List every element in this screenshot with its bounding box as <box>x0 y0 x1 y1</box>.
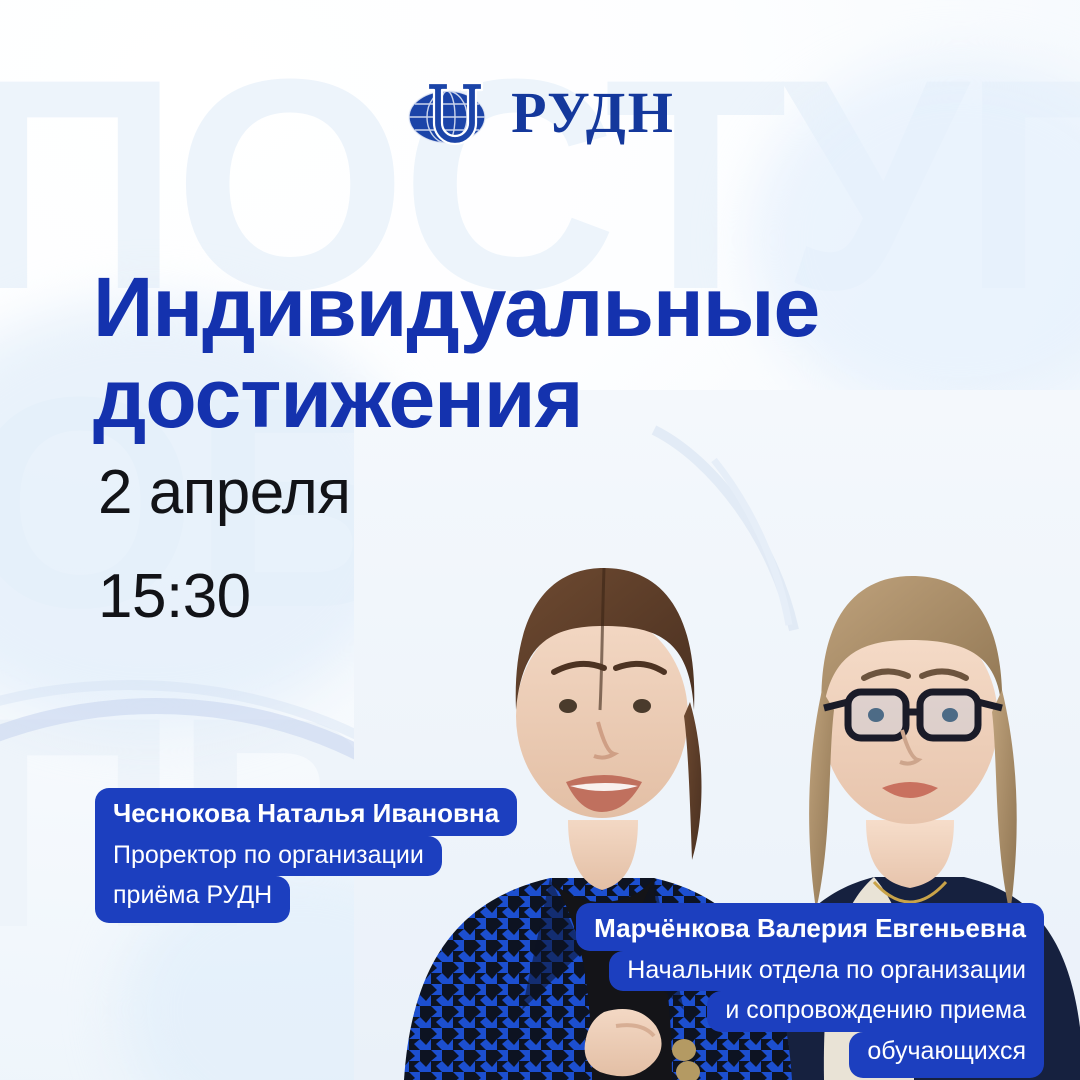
speaker-badge-1: Чеснокова Наталья Ивановна Проректор по … <box>95 788 517 923</box>
event-date: 2 апреля <box>98 462 350 524</box>
title-line-2: достижения <box>93 353 819 444</box>
rudn-globe-flask-icon <box>405 70 489 156</box>
poster-canvas: ПОСТУП ОБРА ПРО РУДН И <box>0 0 1080 1080</box>
speaker-1-role-line-2: приёма РУДН <box>95 876 290 923</box>
brand-logo-text: РУДН <box>511 84 675 142</box>
event-datetime: 2 апреля 15:30 <box>98 462 350 628</box>
speaker-2-role-line-1: Начальник отдела по организации <box>609 951 1044 992</box>
speaker-2-role-line-2: и сопровождению приема <box>707 991 1044 1032</box>
speaker-1-name: Чеснокова Наталья Ивановна <box>95 788 517 836</box>
page-title: Индивидуальные достижения <box>93 262 819 443</box>
title-line-1: Индивидуальные <box>93 260 819 354</box>
event-time: 15:30 <box>98 566 350 628</box>
speaker-badge-2: Марчёнкова Валерия Евгеньевна Начальник … <box>576 903 1044 1078</box>
speaker-1-role-line-1: Проректор по организации <box>95 836 442 877</box>
speaker-2-name: Марчёнкова Валерия Евгеньевна <box>576 903 1044 951</box>
speaker-2-role-line-3: обучающихся <box>849 1032 1044 1079</box>
brand-logo: РУДН <box>0 70 1080 156</box>
